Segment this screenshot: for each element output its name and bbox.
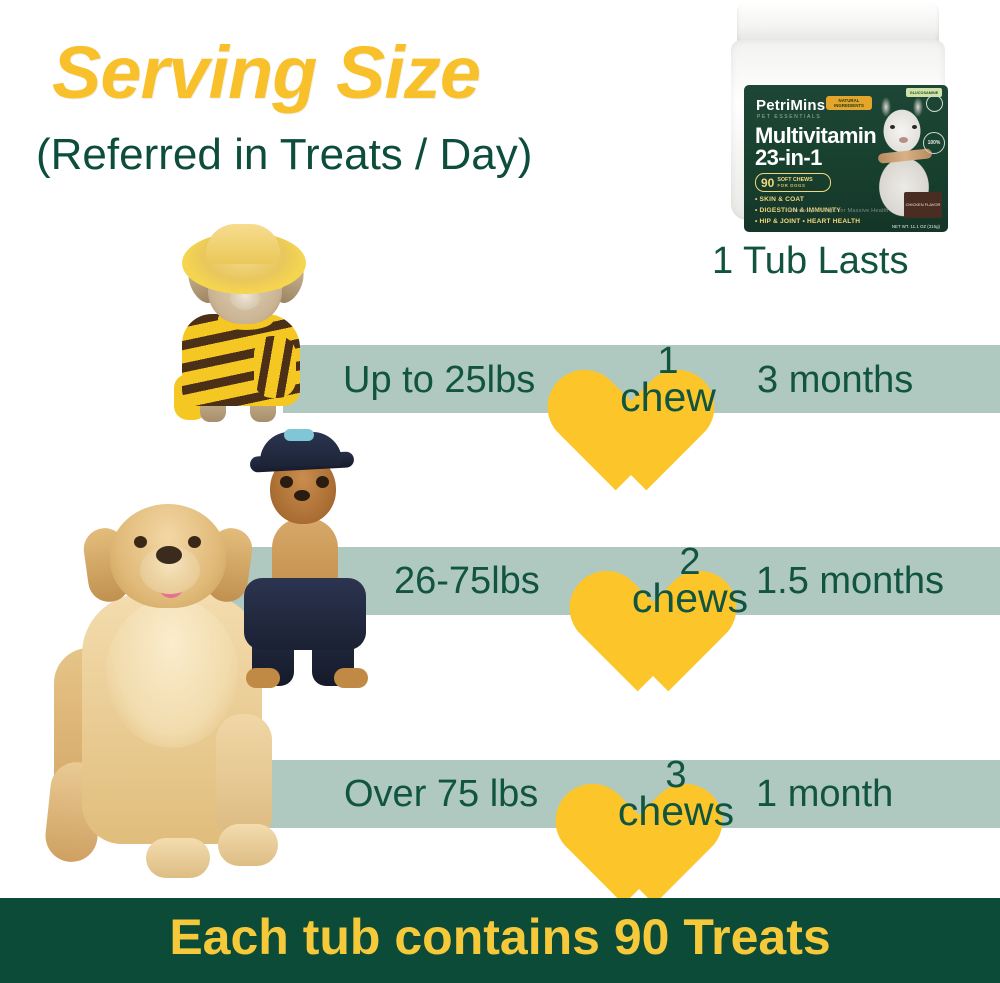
- dose-unit-3: chews: [580, 793, 772, 831]
- benefit-item: • SKIN & COAT: [755, 195, 804, 206]
- dose-label-1: 1 chew: [572, 344, 764, 417]
- spaniel-eye-left: [280, 476, 293, 488]
- page-title: Serving Size: [52, 30, 480, 115]
- spaniel-eye-right: [316, 476, 329, 488]
- spaniel-paw-left: [246, 668, 280, 688]
- chihuahua-photo: [158, 224, 340, 426]
- product-footer-tagline: Microscopic Magic for Massive Health: [731, 208, 945, 214]
- retriever-leg-right: [216, 714, 272, 842]
- footer-banner-text: Each tub contains 90 Treats: [0, 908, 1000, 966]
- brand-name: PetriMins: [756, 97, 825, 114]
- chew-count-pill: 90 SOFT CHEWS FOR DOGS: [755, 173, 831, 192]
- retriever-nose: [156, 546, 182, 564]
- husky-nose: [899, 137, 908, 143]
- retriever-eye-left: [134, 536, 147, 548]
- retriever-paw-left: [146, 838, 210, 878]
- retriever-chest-fur: [106, 598, 238, 748]
- weight-label-1: Up to 25lbs: [343, 359, 535, 402]
- cavalier-spaniel-photo: [222, 432, 388, 688]
- serving-size-infographic: Serving Size (Referred in Treats / Day) …: [0, 0, 1000, 983]
- weight-label-3: Over 75 lbs: [344, 773, 538, 816]
- tub-body: GLUCOSAMINE 100% PetriMins PET ESSENTIAL…: [731, 40, 945, 220]
- brand-tagline: PET ESSENTIALS: [757, 114, 821, 120]
- retriever-eye-right: [188, 536, 201, 548]
- natural-ingredients-badge: NATURAL INGREDIENTS: [826, 96, 872, 110]
- chihuahua-sleeve: [254, 336, 296, 398]
- duration-label-3: 1 month: [756, 773, 893, 816]
- chew-count-label: SOFT CHEWS FOR DOGS: [777, 177, 812, 189]
- dose-label-2: 2 chews: [594, 545, 786, 618]
- flavor-badge: CHICKEN FLAVOR: [904, 192, 942, 218]
- husky-eye-right: [912, 125, 917, 129]
- heart-badge-1: 1 chew: [594, 320, 742, 460]
- dose-unit-1: chew: [572, 379, 764, 417]
- chihuahua-hat-crown: [206, 224, 280, 264]
- paw-seal-icon: [926, 95, 943, 112]
- duration-column-heading: 1 Tub Lasts: [712, 240, 908, 283]
- page-subtitle: (Referred in Treats / Day): [36, 130, 532, 180]
- weight-label-2: 26-75lbs: [394, 560, 540, 603]
- heart-badge-3: 3 chews: [602, 734, 750, 874]
- husky-collar: [878, 148, 933, 164]
- benefit-item: • HIP & JOINT • HEART HEALTH: [755, 217, 860, 228]
- spaniel-nose: [294, 490, 310, 501]
- hundred-percent-seal-icon: 100%: [923, 132, 945, 154]
- husky-eye-left: [890, 125, 895, 129]
- retriever-paw-right: [218, 824, 278, 866]
- dose-unit-2: chews: [594, 580, 786, 618]
- spaniel-denim-jacket: [244, 578, 366, 650]
- net-weight-label: NET WT. 11.1 OZ (315g): [892, 224, 940, 229]
- product-name-line2: 23-in-1: [755, 145, 822, 171]
- chew-count-number: 90: [761, 176, 774, 190]
- spaniel-cap-patch: [284, 429, 314, 441]
- dose-label-3: 3 chews: [580, 758, 772, 831]
- heart-badge-2: 2 chews: [616, 521, 764, 661]
- product-tub-image: GLUCOSAMINE 100% PetriMins PET ESSENTIAL…: [723, 2, 953, 224]
- duration-label-1: 3 months: [757, 359, 913, 402]
- spaniel-paw-right: [334, 668, 368, 688]
